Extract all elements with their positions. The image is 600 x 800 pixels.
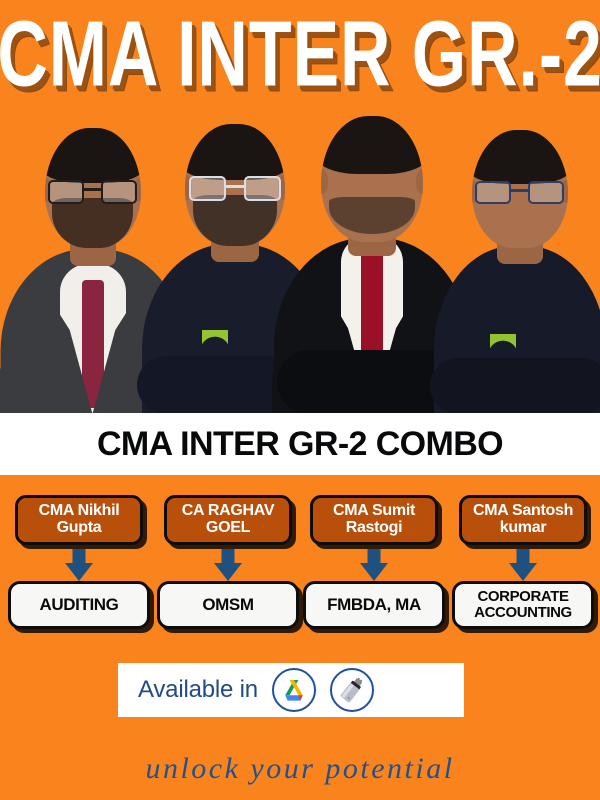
faculty-column-2: CA RAGHAV GOEL OMSM <box>155 487 301 647</box>
google-drive-icon[interactable] <box>272 668 316 712</box>
face <box>185 124 285 246</box>
tagline: unlock your potential <box>0 752 600 786</box>
hair <box>185 124 285 180</box>
hair <box>472 130 568 184</box>
faculty-name-box-2[interactable]: CA RAGHAV GOEL <box>164 495 292 545</box>
crossed-arms <box>430 358 600 414</box>
faculty-name-box-1[interactable]: CMA Nikhil Gupta <box>15 495 143 545</box>
faculty-column-1: CMA Nikhil Gupta AUDITING <box>6 487 152 647</box>
subject-box-2[interactable]: OMSM <box>157 581 299 629</box>
faculty-column-3: CMA Sumit Rastogi FMBDA, MA <box>301 487 447 647</box>
promotional-poster: CMA INTER GR.-2 <box>0 0 600 800</box>
combo-banner: CMA INTER GR-2 COMBO <box>0 413 600 475</box>
faculty-name-2: CA RAGHAV GOEL <box>170 503 286 537</box>
hair <box>45 128 141 183</box>
subject-name-3: FMBDA, MA <box>327 596 421 614</box>
beard <box>52 198 133 248</box>
faculty-name-3: CMA Sumit Rastogi <box>316 503 432 537</box>
polo-logo <box>202 330 228 348</box>
poster-title-area: CMA INTER GR.-2 <box>0 0 600 110</box>
faculty-photo-strip <box>0 108 600 414</box>
subject-name-1: AUDITING <box>40 596 119 614</box>
down-arrow-icon-3 <box>357 549 391 581</box>
faculty-column-4: CMA Santosh kumar CORPORATE ACCOUNTING <box>450 487 596 647</box>
faculty-name-1: CMA Nikhil Gupta <box>21 503 137 537</box>
down-arrow-icon-4 <box>506 549 540 581</box>
subject-box-4[interactable]: CORPORATE ACCOUNTING <box>452 581 594 629</box>
usb-pendrive-icon[interactable] <box>330 668 374 712</box>
beard <box>193 195 277 246</box>
eyeglasses-icon <box>48 180 136 204</box>
eyeglasses-icon <box>189 176 281 200</box>
subject-name-4: CORPORATE ACCOUNTING <box>457 589 589 621</box>
faculty-name-box-4[interactable]: CMA Santosh kumar <box>459 495 587 545</box>
faculty-subject-grid: CMA Nikhil Gupta AUDITING CA RAGHAV GOEL… <box>0 487 600 647</box>
availability-bar: Available in <box>118 663 464 717</box>
polo-logo <box>490 334 516 352</box>
faculty-name-4: CMA Santosh kumar <box>465 503 581 537</box>
moustache <box>329 197 415 235</box>
faculty-name-box-3[interactable]: CMA Sumit Rastogi <box>310 495 438 545</box>
faculty-photo-4 <box>432 114 600 414</box>
subject-name-2: OMSM <box>202 596 253 614</box>
hair <box>321 116 423 174</box>
subject-box-1[interactable]: AUDITING <box>8 581 150 629</box>
face <box>45 128 141 248</box>
combo-banner-title: CMA INTER GR-2 COMBO <box>97 425 503 464</box>
face <box>472 130 568 248</box>
page-title: CMA INTER GR.-2 <box>0 9 600 102</box>
face <box>321 116 423 242</box>
available-in-label: Available in <box>138 676 258 704</box>
down-arrow-icon-2 <box>211 549 245 581</box>
eyeglasses-icon <box>475 181 563 205</box>
down-arrow-icon-1 <box>62 549 96 581</box>
subject-box-3[interactable]: FMBDA, MA <box>303 581 445 629</box>
